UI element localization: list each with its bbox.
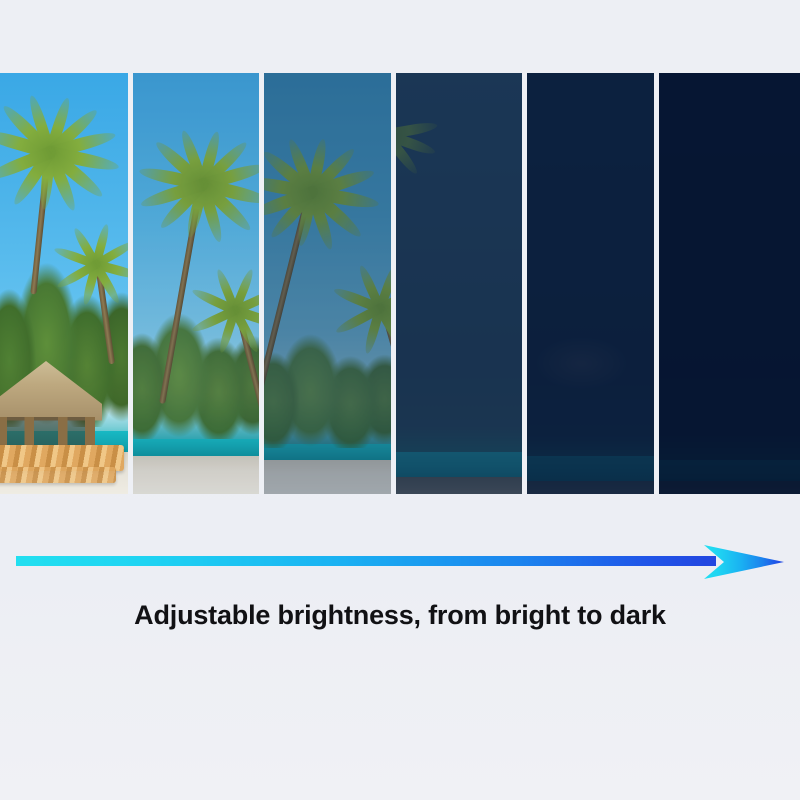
cloud — [537, 338, 626, 389]
tree-line — [264, 296, 391, 448]
sky — [527, 73, 654, 494]
brightness-panel-2[interactable] — [133, 73, 264, 494]
page-root: Adjustable brightness, from bright to da… — [0, 0, 800, 800]
beach-scene-6 — [659, 73, 800, 494]
sea-band — [396, 452, 522, 477]
brightness-panel-4[interactable] — [396, 73, 527, 494]
beach-loungers — [0, 467, 116, 483]
sand-band — [659, 481, 800, 494]
hut-roof — [0, 361, 102, 421]
brightness-panel-1[interactable] — [0, 73, 133, 494]
sand-band — [264, 460, 391, 494]
brightness-comparison-strip — [0, 73, 800, 494]
beach-scene-5 — [527, 73, 654, 494]
brightness-panel-3[interactable] — [264, 73, 396, 494]
beach-scene-2 — [133, 73, 259, 494]
arrow-shaft — [16, 556, 716, 566]
sea-band — [133, 439, 259, 456]
sand-band — [396, 477, 522, 494]
thatched-hut — [0, 361, 102, 457]
sky — [659, 73, 800, 494]
brightness-gradient-arrow — [12, 545, 788, 587]
caption-text: Adjustable brightness, from bright to da… — [0, 600, 800, 631]
arrow-svg — [12, 545, 788, 587]
sky — [396, 73, 522, 494]
sea-band — [659, 460, 800, 481]
sea-band — [527, 456, 654, 481]
beach-scene-3 — [264, 73, 391, 494]
tree-line — [133, 271, 259, 439]
beach-scene-4 — [396, 73, 522, 494]
sand-band — [133, 456, 259, 494]
brightness-panel-6[interactable] — [659, 73, 800, 494]
beach-scene-1 — [0, 73, 128, 494]
brightness-panel-5[interactable] — [527, 73, 659, 494]
sand-band — [527, 481, 654, 494]
